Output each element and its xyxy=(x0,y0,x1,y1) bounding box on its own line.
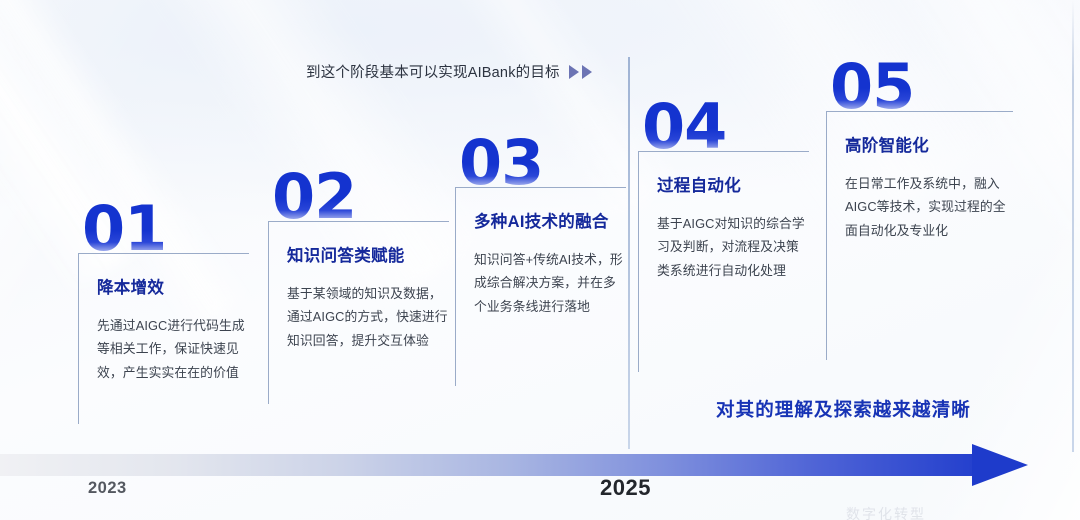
step-title: 知识问答类赋能 xyxy=(287,242,449,266)
step-number: 05 xyxy=(830,57,1013,117)
step-title: 多种AI技术的融合 xyxy=(474,208,626,232)
step-description: 基于某领域的知识及数据，通过AIGC的方式，快速进行知识回答，提升交互体验 xyxy=(287,282,449,353)
footer-watermark: 数字化转型 xyxy=(846,504,926,520)
timeline-step-02: 02 知识问答类赋能 基于某领域的知识及数据，通过AIGC的方式，快速进行知识回… xyxy=(268,167,449,404)
step-number: 01 xyxy=(82,199,249,259)
double-chevron-right-icon xyxy=(569,65,592,79)
step-description: 先通过AIGC进行代码生成等相关工作，保证快速见效，产生实实在在的价值 xyxy=(97,314,249,385)
top-annotation: 到这个阶段基本可以实现AIBank的目标 xyxy=(306,61,592,82)
step-number: 04 xyxy=(642,97,809,157)
step-card: 高阶智能化 在日常工作及系统中，融入AIGC等技术，实现过程的全面自动化及专业化 xyxy=(826,111,1013,360)
step-number: 03 xyxy=(459,133,626,193)
timeline-step-04: 04 过程自动化 基于AIGC对知识的综合学习及判断，对流程及决策类系统进行自动… xyxy=(638,97,809,372)
annotation-text: 到这个阶段基本可以实现AIBank的目标 xyxy=(306,61,560,82)
year-marker-line xyxy=(628,57,630,449)
step-title: 降本增效 xyxy=(97,274,249,298)
step-description: 基于AIGC对知识的综合学习及判断，对流程及决策类系统进行自动化处理 xyxy=(657,212,809,283)
timeline-step-01: 01 降本增效 先通过AIGC进行代码生成等相关工作，保证快速见效，产生实实在在… xyxy=(78,199,249,424)
step-description: 知识问答+传统AI技术，形成综合解决方案，并在多个业务条线进行落地 xyxy=(474,248,626,319)
right-arrow-icon xyxy=(972,444,1028,486)
step-title: 高阶智能化 xyxy=(845,132,1013,156)
slide-canvas: 到这个阶段基本可以实现AIBank的目标 01 降本增效 先通过AIGC进行代码… xyxy=(0,0,1080,520)
timeline-arrow xyxy=(0,448,1080,482)
year-label-start: 2023 xyxy=(88,479,127,498)
step-description: 在日常工作及系统中，融入AIGC等技术，实现过程的全面自动化及专业化 xyxy=(845,172,1013,243)
timeline-bar xyxy=(0,454,975,476)
tagline-text: 对其的理解及探索越来越清晰 xyxy=(716,396,971,422)
timeline-step-05: 05 高阶智能化 在日常工作及系统中，融入AIGC等技术，实现过程的全面自动化及… xyxy=(826,57,1013,360)
right-edge-line xyxy=(1072,0,1074,452)
step-card: 知识问答类赋能 基于某领域的知识及数据，通过AIGC的方式，快速进行知识回答，提… xyxy=(268,221,449,404)
step-number: 02 xyxy=(272,167,449,227)
step-card: 多种AI技术的融合 知识问答+传统AI技术，形成综合解决方案，并在多个业务条线进… xyxy=(455,187,626,386)
step-card: 过程自动化 基于AIGC对知识的综合学习及判断，对流程及决策类系统进行自动化处理 xyxy=(638,151,809,372)
step-title: 过程自动化 xyxy=(657,172,809,196)
step-card: 降本增效 先通过AIGC进行代码生成等相关工作，保证快速见效，产生实实在在的价值 xyxy=(78,253,249,424)
timeline-step-03: 03 多种AI技术的融合 知识问答+传统AI技术，形成综合解决方案，并在多个业务… xyxy=(455,133,626,386)
year-label-end: 2025 xyxy=(600,475,651,501)
